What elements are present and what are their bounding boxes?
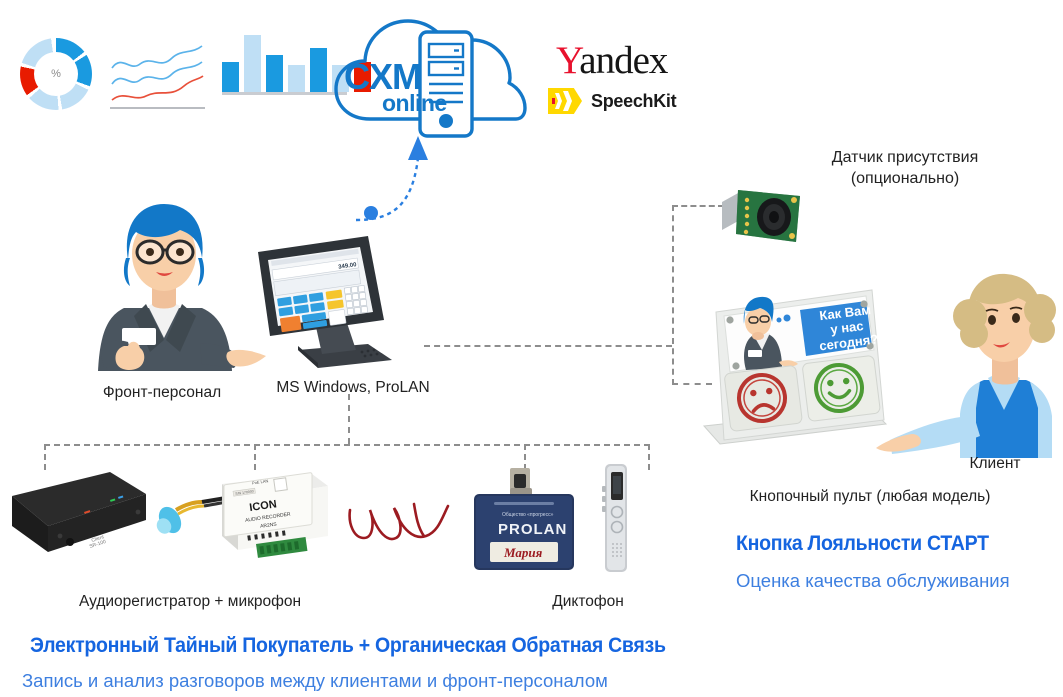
- right-headline: Кнопка Лояльности СТАРТ: [736, 532, 989, 556]
- bus-drop-1: [44, 444, 46, 470]
- dictaphone-caption: Диктофон: [498, 592, 678, 611]
- audio-recorder-caption: Аудиорегистратор + микрофон: [0, 592, 380, 611]
- front-staff-label: Фронт-персонал: [62, 383, 262, 402]
- donut-center-label: %: [20, 38, 92, 110]
- bus-drop-4: [648, 444, 650, 470]
- client-label: Клиент: [930, 454, 1060, 473]
- right-subheadline: Оценка качества обслуживания: [736, 570, 1010, 592]
- presence-sensor-label-line2: (опционально): [790, 169, 1020, 190]
- bottom-subheadline: Запись и анализ разговоров между клиента…: [22, 670, 608, 692]
- connector-pos-down: [348, 394, 350, 444]
- speechkit-label: SpeechKit: [591, 91, 676, 112]
- cxm-brand: CXM: [344, 62, 421, 93]
- svg-text:PROLAN: PROLAN: [498, 521, 567, 538]
- pos-terminal-label: MS Windows, ProLAN: [248, 378, 458, 397]
- dictaphone: [598, 462, 636, 579]
- feedback-question: Как Вам у нас сегодня?: [810, 302, 885, 355]
- line-chart-icon: [110, 40, 205, 115]
- or-separator: [344, 498, 454, 555]
- presence-sensor-label-line1: Датчик присутствия: [790, 148, 1020, 169]
- speechkit-arrow-icon: [548, 88, 582, 114]
- audio-recorder-black-box: Client SR-100: [6, 468, 152, 563]
- svg-text:Мария: Мария: [503, 545, 543, 560]
- svg-text:Общество «прогресс»: Общество «прогресс»: [502, 512, 554, 518]
- donut-chart-icon: %: [20, 38, 92, 110]
- yandex-logo: Yandex: [556, 38, 667, 83]
- connector-pos-to-panel: [424, 345, 672, 347]
- front-staff-character: [60, 176, 270, 376]
- pos-terminal: 349.00: [252, 232, 402, 377]
- prolan-badge: Общество «прогресс» PROLAN Мария: [466, 466, 582, 581]
- connector-vertical-right: [672, 205, 674, 385]
- arrow-dot: [364, 206, 378, 220]
- icon-audio-recorder: PoE LAN S/N 170000 ICON AUDIO RECORDER A…: [216, 466, 334, 567]
- bottom-headline: Электронный Тайный Покупатель + Органиче…: [30, 634, 666, 658]
- feedback-button-panel[interactable]: Как Вам у нас сегодня?: [694, 274, 890, 469]
- speechkit-logo: SpeechKit: [548, 88, 676, 114]
- presence-sensor-label: Датчик присутствия (опционально): [790, 148, 1020, 190]
- yandex-y: Y: [556, 39, 579, 82]
- yandex-rest: andex: [579, 39, 667, 82]
- presence-sensor: [716, 186, 808, 253]
- cxm-brand-sub: online: [382, 90, 447, 117]
- device-bus: [44, 444, 650, 446]
- feedback-panel-label: Кнопочный пульт (любая модель): [700, 487, 1040, 506]
- client-character: [876, 258, 1062, 463]
